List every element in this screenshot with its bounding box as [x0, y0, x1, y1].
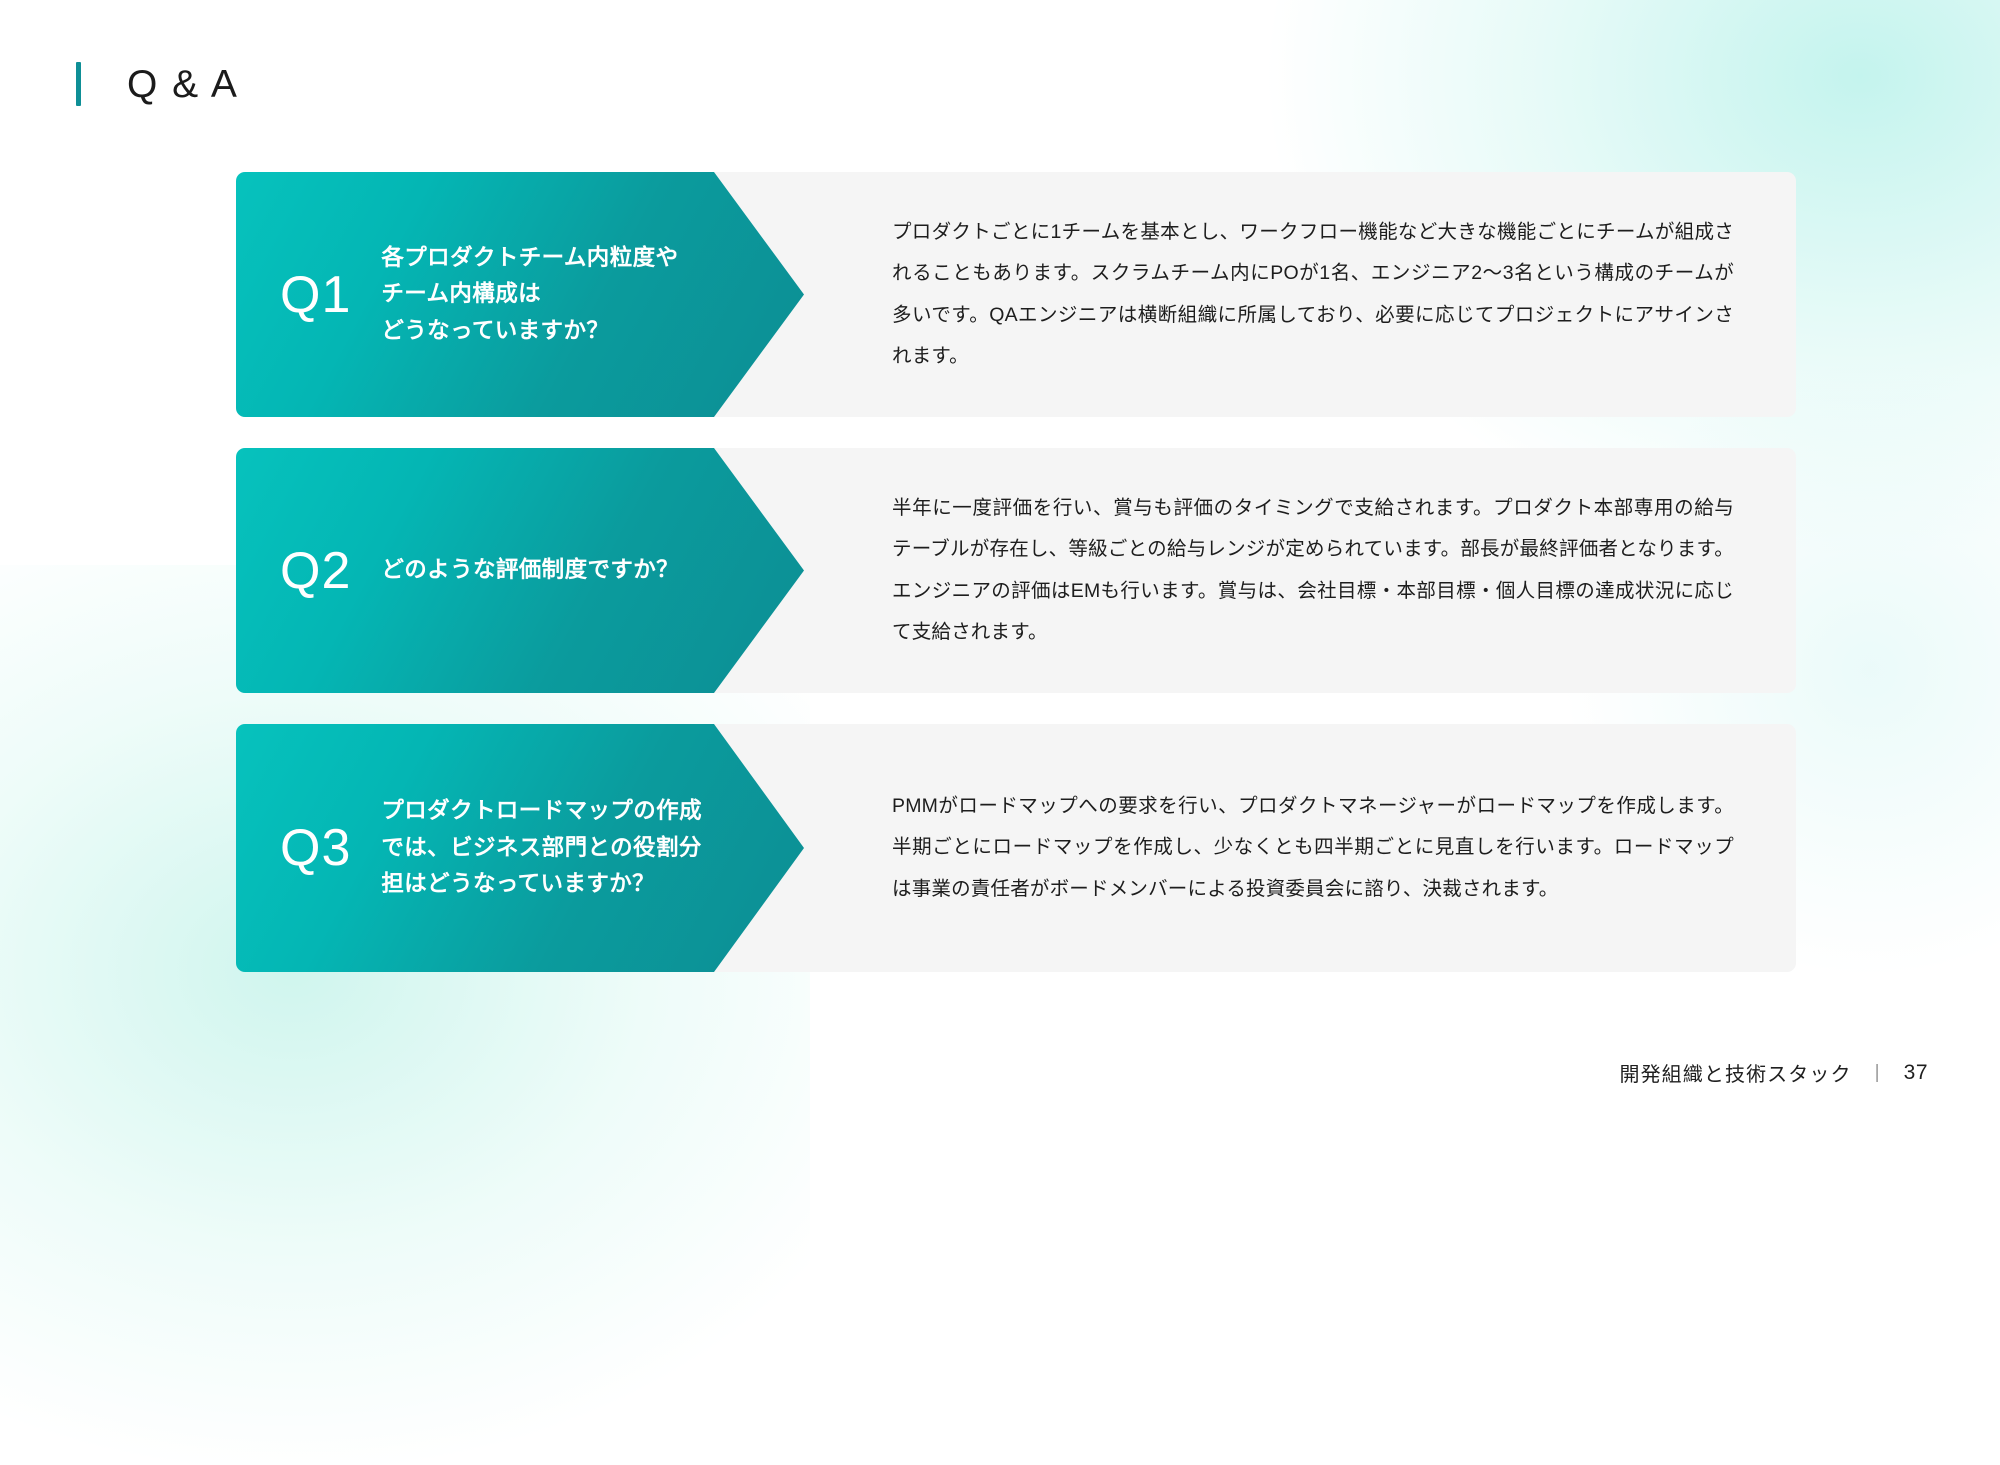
qa-item-2: Q2 どのような評価制度ですか？ 半年に一度評価を行い、賞与も評価のタイミングで…	[236, 448, 1796, 693]
answer-panel-1: プロダクトごとに1チームを基本とし、ワークフロー機能など大きな機能ごとにチームが…	[804, 172, 1796, 417]
question-number-3: Q3	[280, 822, 351, 874]
qa-item-3: Q3 プロダクトロードマップの作成 では、ビジネス部門との役割分 担はどうなって…	[236, 724, 1796, 972]
answer-text-2: 半年に一度評価を行い、賞与も評価のタイミングで支給されます。プロダクト本部専用の…	[892, 488, 1734, 653]
answer-text-3: PMMがロードマップへの要求を行い、プロダクトマネージャーがロードマップを作成し…	[892, 786, 1734, 910]
question-panel-1: Q1 各プロダクトチーム内粒度や チーム内構成は どうなっていますか？	[236, 172, 804, 417]
page-footer: 開発組織と技術スタック | 37	[1619, 1058, 1928, 1087]
question-panel-2: Q2 どのような評価制度ですか？	[236, 448, 804, 693]
answer-panel-3: PMMがロードマップへの要求を行い、プロダクトマネージャーがロードマップを作成し…	[804, 724, 1796, 972]
question-text-2: どのような評価制度ですか？	[381, 552, 679, 588]
answer-panel-2: 半年に一度評価を行い、賞与も評価のタイミングで支給されます。プロダクト本部専用の…	[804, 448, 1796, 693]
footer-separator: |	[1875, 1062, 1881, 1084]
qa-list: Q1 各プロダクトチーム内粒度や チーム内構成は どうなっていますか？ プロダク…	[236, 172, 1796, 1003]
question-text-1: 各プロダクトチーム内粒度や チーム内構成は どうなっていますか？	[381, 240, 678, 349]
footer-section-label: 開発組織と技術スタック	[1619, 1058, 1851, 1087]
page-header: Q & A	[76, 62, 239, 106]
question-number-2: Q2	[280, 545, 351, 597]
answer-text-1: プロダクトごとに1チームを基本とし、ワークフロー機能など大きな機能ごとにチームが…	[892, 212, 1734, 377]
question-text-3: プロダクトロードマップの作成 では、ビジネス部門との役割分 担はどうなっています…	[381, 793, 702, 902]
footer-page-number: 37	[1904, 1061, 1928, 1085]
question-panel-3: Q3 プロダクトロードマップの作成 では、ビジネス部門との役割分 担はどうなって…	[236, 724, 804, 972]
qa-item-1: Q1 各プロダクトチーム内粒度や チーム内構成は どうなっていますか？ プロダク…	[236, 172, 1796, 417]
page-title: Q & A	[127, 65, 239, 104]
question-number-1: Q1	[280, 269, 351, 321]
title-accent-bar	[76, 62, 81, 106]
